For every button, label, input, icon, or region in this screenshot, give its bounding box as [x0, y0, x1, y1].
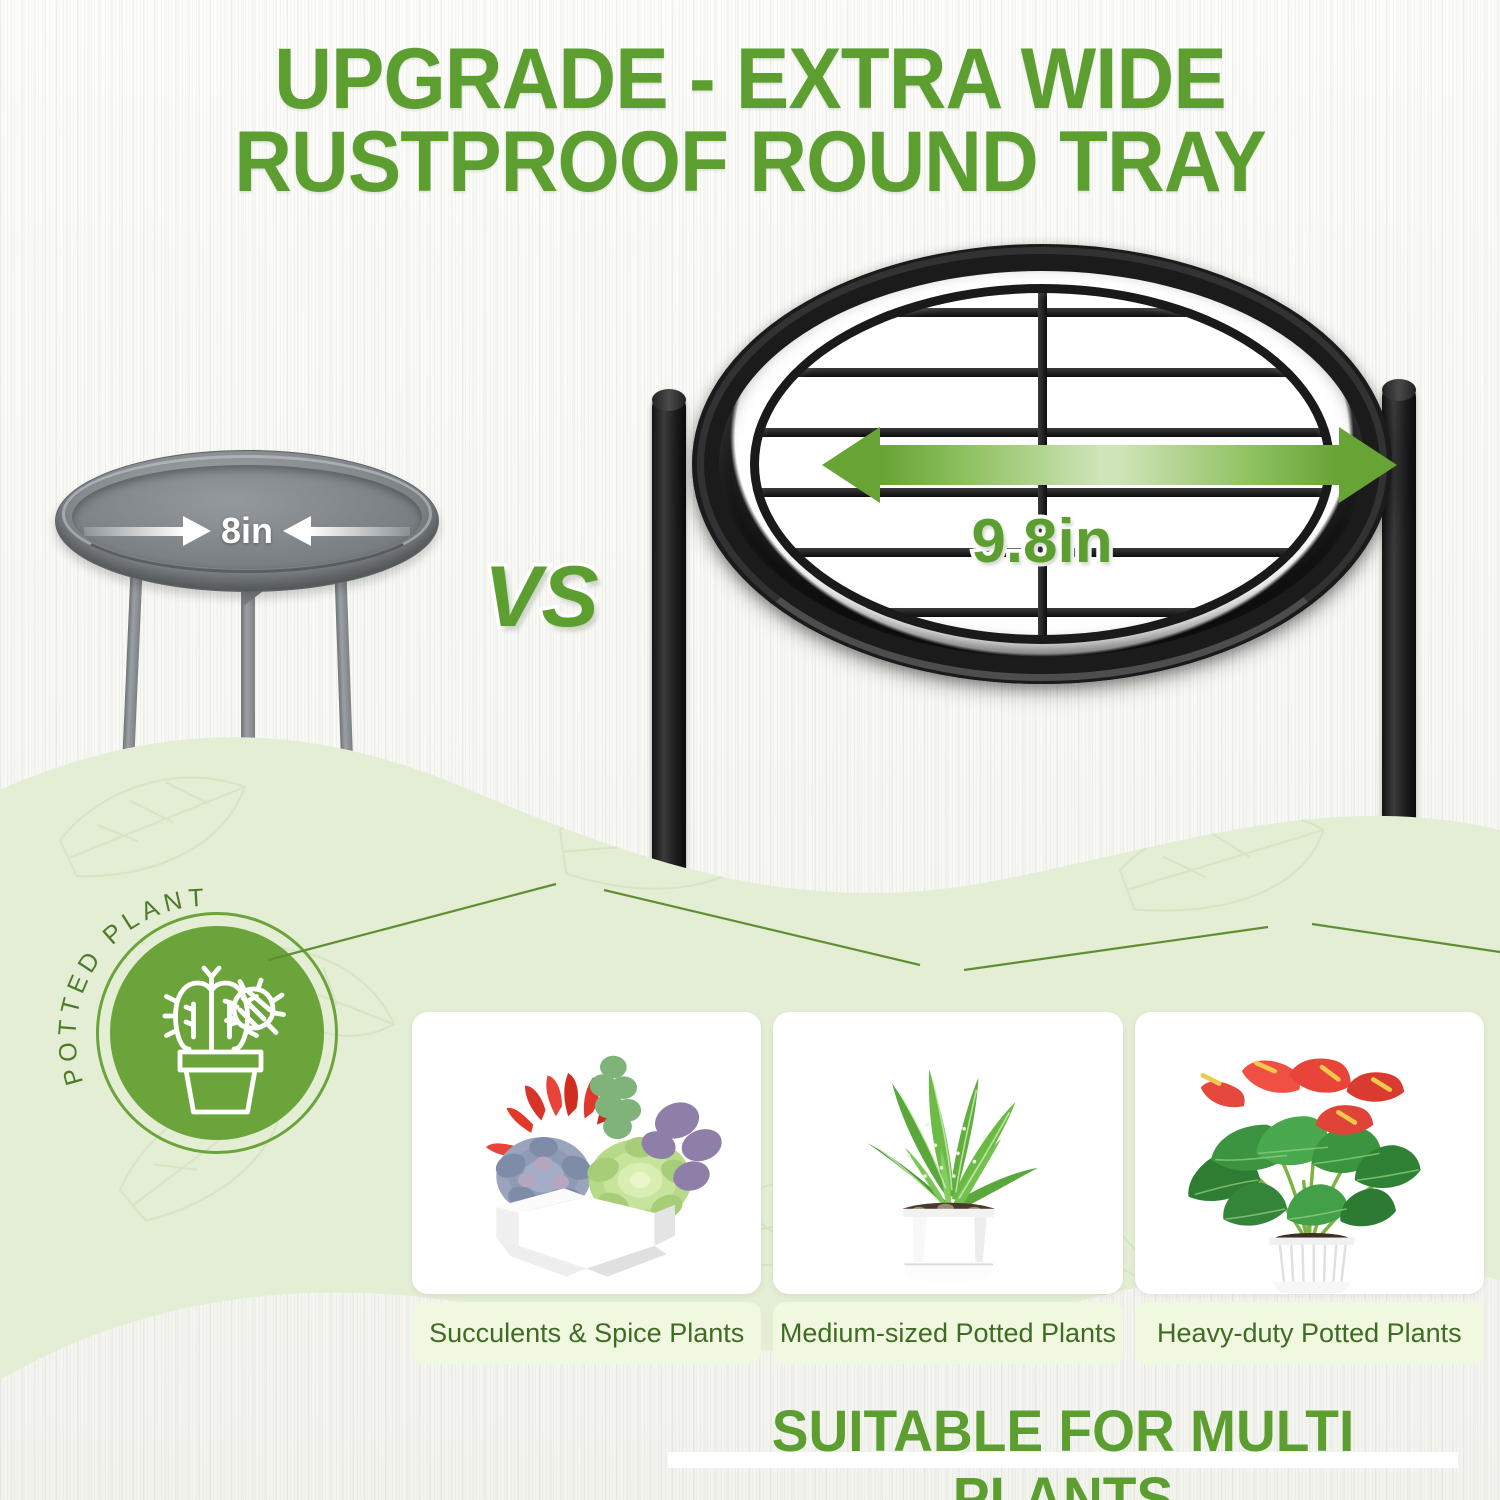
caption-pill-list: Succulents & Spice Plants Medium-sized P… [412, 1302, 1484, 1364]
plant-card-3[interactable] [1135, 1012, 1484, 1294]
headline-line-2: RUSTPROOF ROUND TRAY [53, 121, 1448, 204]
plant-card-1[interactable] [412, 1012, 761, 1294]
caption-pill-2: Medium-sized Potted Plants [773, 1302, 1122, 1364]
aloe-plant-image [773, 1026, 1122, 1293]
plant-card-2[interactable] [773, 1012, 1122, 1294]
new-tray-dimension-arrow-icon [822, 427, 1397, 503]
footer-headline: SUITABLE FOR MULTI PLANTS [688, 1398, 1439, 1500]
succulent-arrangement-image [412, 1026, 761, 1293]
dimension-arrow-left-icon [283, 516, 410, 546]
headline-line-1: UPGRADE - EXTRA WIDE [274, 31, 1226, 127]
footer-headline-group: SUITABLE FOR MULTI PLANTS [668, 1398, 1458, 1472]
old-tray-dimension-group: 8in [84, 509, 410, 553]
new-tray-surface: 9.8in [692, 244, 1392, 684]
old-tray-surface: 8in [55, 450, 439, 592]
infographic-canvas: UPGRADE - EXTRA WIDE RUSTPROOF ROUND TRA… [0, 0, 1500, 1500]
old-tray-dimension-label: 8in [211, 510, 283, 552]
caption-pill-3: Heavy-duty Potted Plants [1135, 1302, 1484, 1364]
dimension-arrow-right-icon [84, 516, 211, 546]
caption-label-3: Heavy-duty Potted Plants [1157, 1318, 1462, 1349]
anthurium-plant-image [1135, 1026, 1484, 1293]
page-title: UPGRADE - EXTRA WIDE RUSTPROOF ROUND TRA… [53, 38, 1448, 205]
caption-label-2: Medium-sized Potted Plants [780, 1318, 1116, 1349]
new-tray-dimension-label: 9.8in [692, 506, 1392, 577]
plant-card-list [412, 1012, 1484, 1294]
versus-label: VS [484, 548, 599, 647]
caption-label-1: Succulents & Spice Plants [429, 1318, 744, 1349]
caption-pill-1: Succulents & Spice Plants [412, 1302, 761, 1364]
